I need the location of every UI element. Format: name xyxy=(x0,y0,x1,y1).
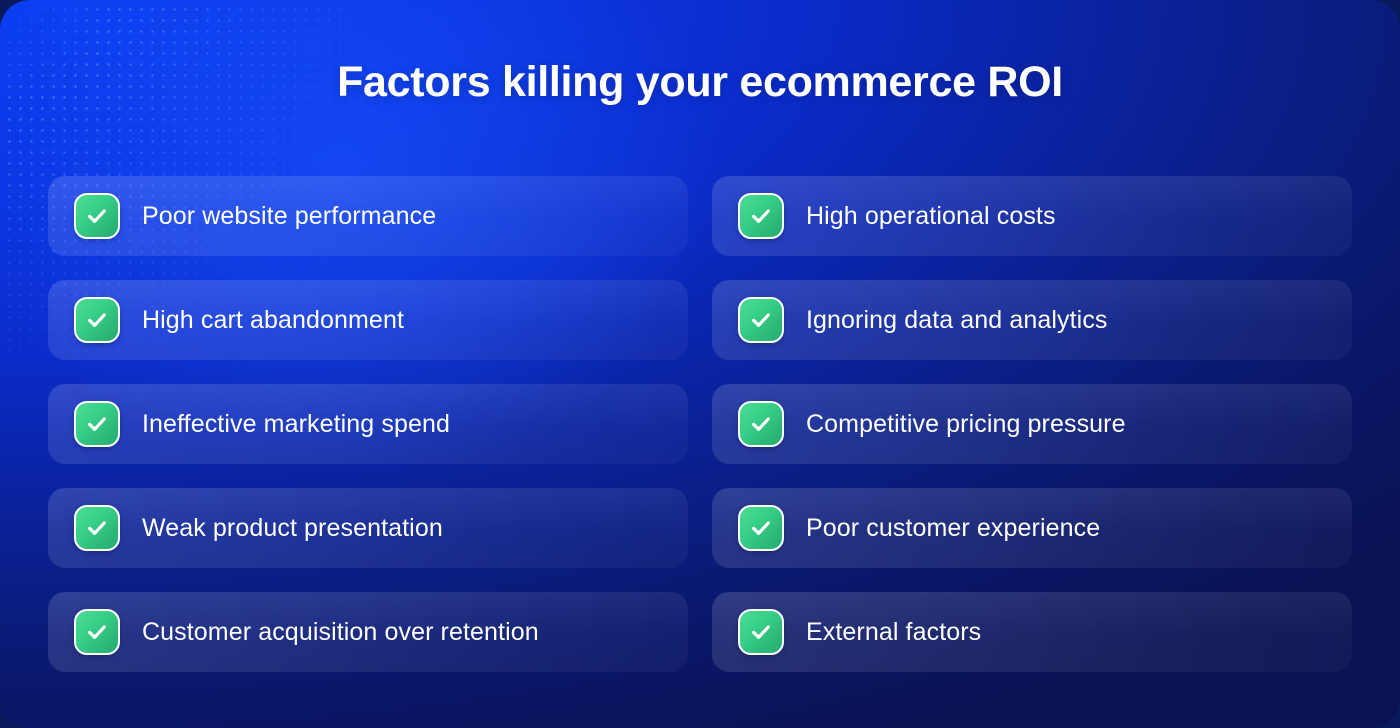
list-item: Weak product presentation xyxy=(48,488,688,568)
list-item-label: High operational costs xyxy=(806,202,1056,231)
check-square-icon xyxy=(738,193,784,239)
list-item: Ignoring data and analytics xyxy=(712,280,1352,360)
checklist-grid: Poor website performance High operationa… xyxy=(48,176,1352,672)
list-item: Poor website performance xyxy=(48,176,688,256)
list-item: Ineffective marketing spend xyxy=(48,384,688,464)
list-item-label: Poor website performance xyxy=(142,202,436,231)
check-square-icon xyxy=(74,609,120,655)
page-title: Factors killing your ecommerce ROI xyxy=(0,58,1400,107)
list-item-label: Customer acquisition over retention xyxy=(142,618,539,647)
check-square-icon xyxy=(738,401,784,447)
list-item: Customer acquisition over retention xyxy=(48,592,688,672)
list-item: Competitive pricing pressure xyxy=(712,384,1352,464)
list-item-label: Weak product presentation xyxy=(142,514,443,543)
check-square-icon xyxy=(738,505,784,551)
list-item-label: Competitive pricing pressure xyxy=(806,410,1126,439)
list-item: External factors xyxy=(712,592,1352,672)
list-item: High cart abandonment xyxy=(48,280,688,360)
list-item: Poor customer experience xyxy=(712,488,1352,568)
list-item-label: External factors xyxy=(806,618,981,647)
list-item-label: Poor customer experience xyxy=(806,514,1100,543)
list-item-label: Ineffective marketing spend xyxy=(142,410,450,439)
check-square-icon xyxy=(738,297,784,343)
check-square-icon xyxy=(74,401,120,447)
list-item-label: High cart abandonment xyxy=(142,306,404,335)
check-square-icon xyxy=(738,609,784,655)
infographic-poster: Factors killing your ecommerce ROI Poor … xyxy=(0,0,1400,728)
check-square-icon xyxy=(74,505,120,551)
list-item: High operational costs xyxy=(712,176,1352,256)
check-square-icon xyxy=(74,297,120,343)
list-item-label: Ignoring data and analytics xyxy=(806,306,1108,335)
check-square-icon xyxy=(74,193,120,239)
